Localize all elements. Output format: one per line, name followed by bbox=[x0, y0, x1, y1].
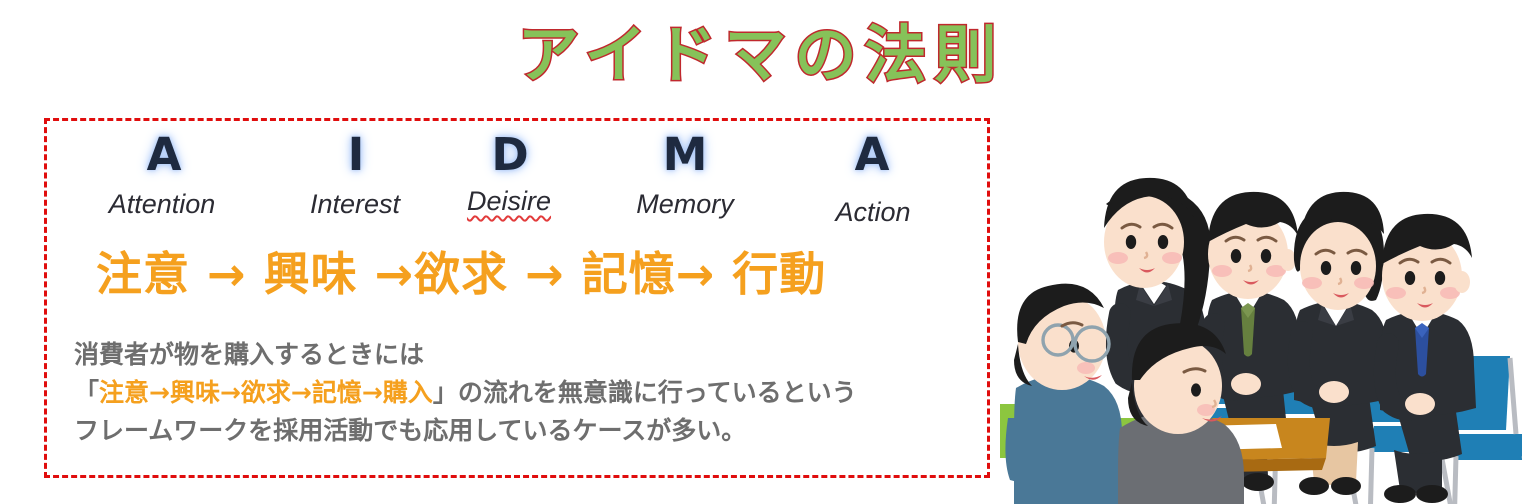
aidma-item-action: A Action bbox=[780, 132, 970, 226]
aidma-letter-a1: A bbox=[147, 132, 182, 177]
description-paragraph: 消費者が物を購入するときには 「注意→興味→欲求→記憶→購入」の流れを無意識に行… bbox=[74, 336, 990, 450]
description-line-1: 消費者が物を購入するときには bbox=[74, 336, 990, 374]
aidma-letter-a2: A bbox=[855, 132, 890, 177]
description-flow-highlight: 注意→興味→欲求→記憶→購入 bbox=[99, 378, 433, 407]
quote-open: 「 bbox=[74, 378, 99, 407]
aidma-item-interest: I Interest bbox=[280, 132, 430, 218]
slide-canvas: アイドマの法則 A Attention I Interest D Deisire… bbox=[0, 0, 1522, 504]
aidma-word-deisire: Deisire bbox=[467, 188, 551, 215]
aidma-item-desire: D Deisire bbox=[430, 132, 590, 215]
aidma-letter-m: M bbox=[663, 132, 708, 177]
aidma-item-memory: M Memory bbox=[590, 132, 780, 218]
aidma-word-action: Action bbox=[835, 199, 910, 226]
page-title: アイドマの法則 bbox=[0, 22, 1522, 87]
description-line-2-tail: 」の流れを無意識に行っているという bbox=[433, 378, 857, 407]
job-interview-illustration bbox=[1000, 118, 1522, 504]
aidma-item-attention: A Attention bbox=[44, 132, 280, 218]
aidma-word-memory: Memory bbox=[636, 191, 734, 218]
aidma-letter-d: D bbox=[491, 132, 528, 177]
aidma-word-attention: Attention bbox=[109, 191, 216, 218]
aidma-letter-row: A Attention I Interest D Deisire M Memor… bbox=[44, 132, 990, 254]
aidma-letter-i: I bbox=[348, 132, 365, 177]
aidma-flow-japanese: 注意 → 興味 →欲求 → 記憶→ 行動 bbox=[96, 246, 986, 302]
aidma-word-interest: Interest bbox=[310, 191, 400, 218]
description-line-3: フレームワークを採用活動でも応用しているケースが多い。 bbox=[74, 412, 990, 450]
interviewer-1-bald bbox=[1005, 284, 1122, 504]
description-line-2: 「注意→興味→欲求→記憶→購入」の流れを無意識に行っているという bbox=[74, 374, 990, 412]
